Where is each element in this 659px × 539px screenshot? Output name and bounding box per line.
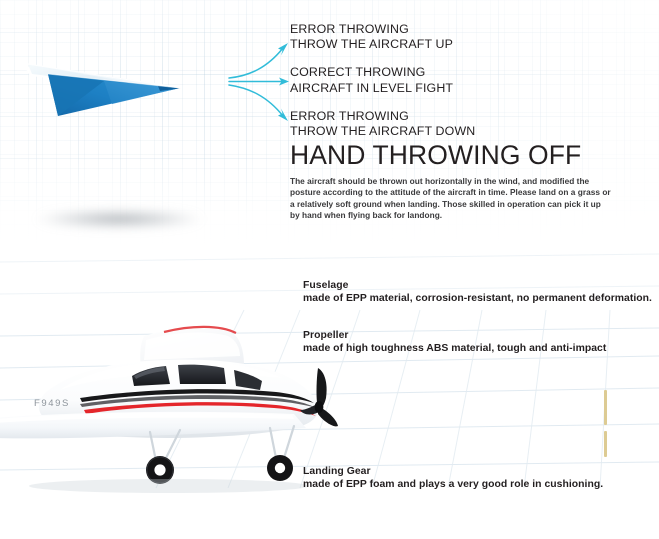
callout-error-down: ERROR THROWING THROW THE AIRCRAFT DOWN [290, 109, 610, 139]
throwing-callout-list: ERROR THROWING THROW THE AIRCRAFT UP COR… [290, 22, 610, 152]
throwing-arrows [225, 32, 300, 132]
spec-desc: made of high toughness ABS material, tou… [303, 342, 606, 355]
spec-propeller: Propeller made of high toughness ABS mat… [303, 329, 606, 355]
section-body-text: The aircraft should be thrown out horizo… [290, 176, 612, 222]
arrow-curve-up-icon [229, 48, 283, 78]
spec-desc: made of EPP foam and plays a very good r… [303, 478, 603, 491]
spec-title: Landing Gear [303, 465, 603, 478]
callout-correct-level: CORRECT THROWING AIRCRAFT IN LEVEL FIGHT [290, 65, 610, 95]
hand-throwing-section: ERROR THROWING THROW THE AIRCRAFT UP COR… [0, 0, 659, 248]
callout-title: ERROR THROWING [290, 109, 610, 124]
edge-tick-upper [604, 390, 607, 425]
spec-fuselage: Fuselage made of EPP material, corrosion… [303, 279, 652, 305]
edge-tick-lower [604, 431, 607, 457]
callout-title: ERROR THROWING [290, 22, 610, 37]
parts-section: F949S [0, 248, 659, 539]
spec-title: Fuselage [303, 279, 652, 292]
callout-error-up: ERROR THROWING THROW THE AIRCRAFT UP [290, 22, 610, 52]
spec-landing-gear: Landing Gear made of EPP foam and plays … [303, 465, 603, 491]
model-marking: F949S [34, 398, 70, 409]
arrow-curve-down-icon [229, 85, 283, 116]
paper-plane-shadow [18, 206, 248, 232]
spec-title: Propeller [303, 329, 606, 342]
section-headline: HAND THROWING OFF [290, 142, 581, 169]
callout-desc: THROW THE AIRCRAFT DOWN [290, 124, 610, 139]
callout-desc: THROW THE AIRCRAFT UP [290, 37, 610, 52]
callout-desc: AIRCRAFT IN LEVEL FIGHT [290, 81, 610, 96]
infographic-page: ERROR THROWING THROW THE AIRCRAFT UP COR… [0, 0, 659, 539]
callout-title: CORRECT THROWING [290, 65, 610, 80]
spec-desc: made of EPP material, corrosion-resistan… [303, 292, 652, 305]
